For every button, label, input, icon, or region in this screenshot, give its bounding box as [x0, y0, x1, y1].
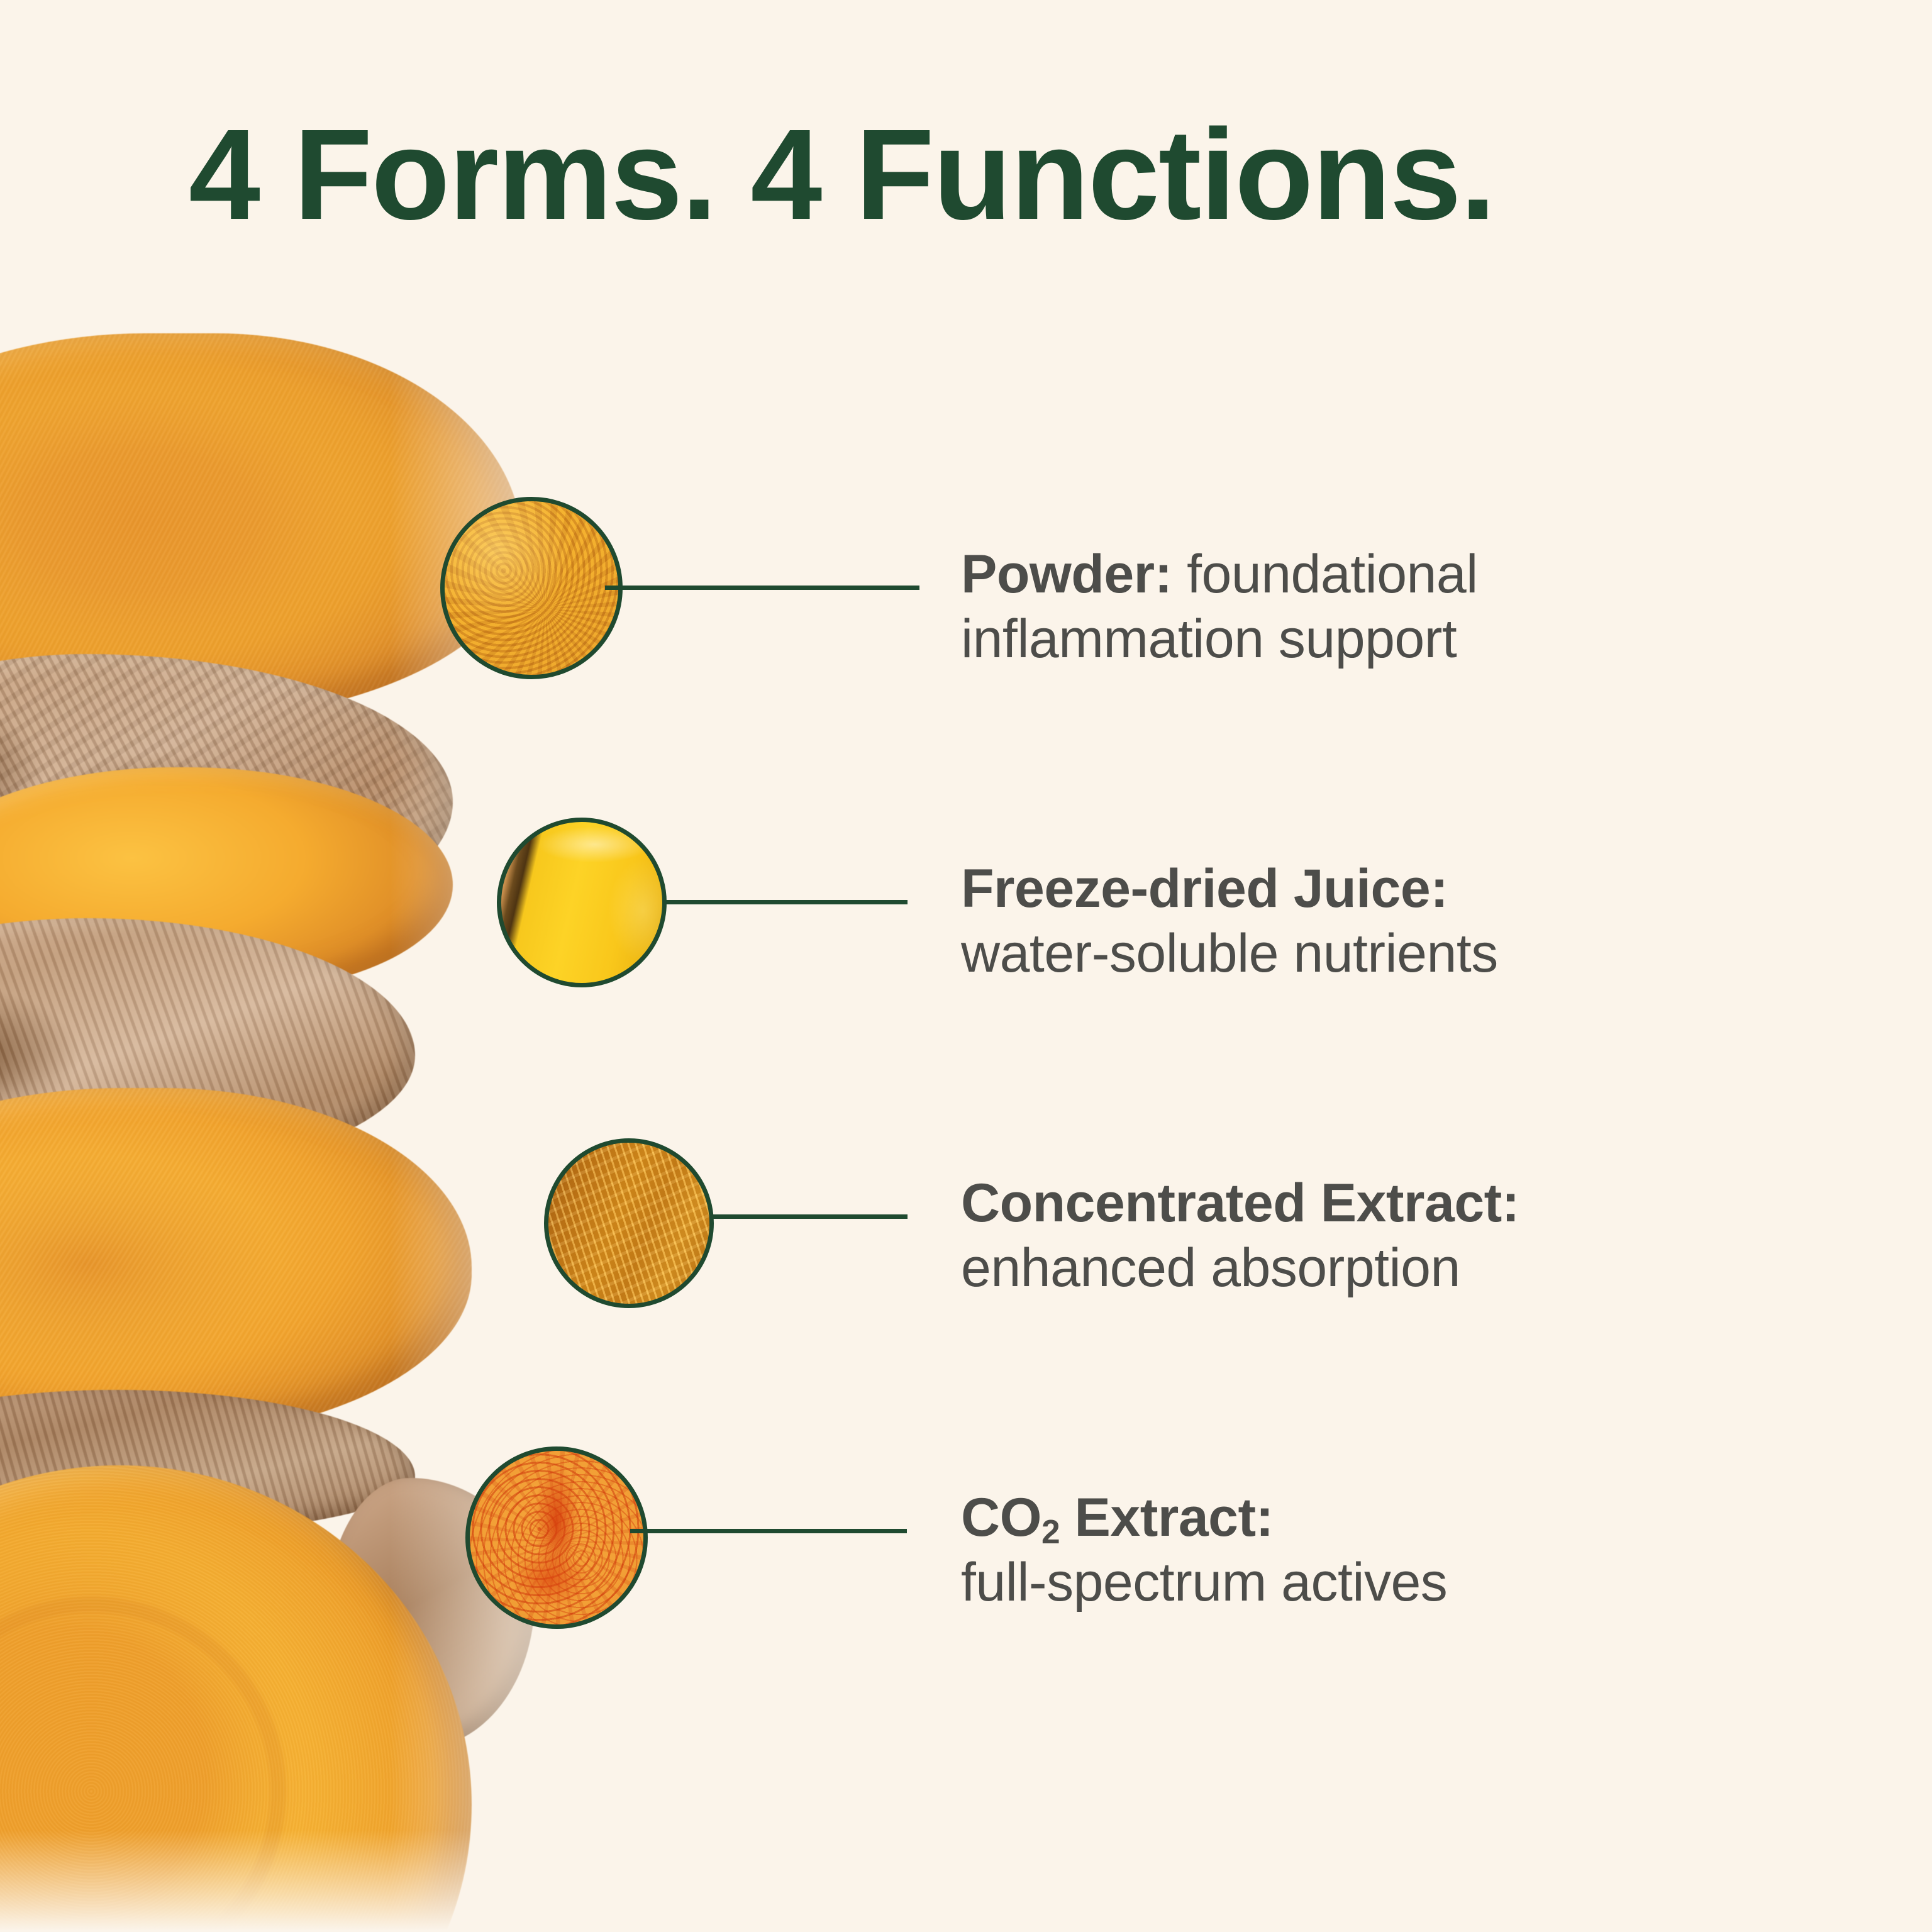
co2-lead-text: CO2 Extract: [961, 1487, 1274, 1548]
extract-liquid-closeup-bubble[interactable] [544, 1138, 714, 1308]
powder-line2-text: inflammation support [961, 607, 1873, 672]
callout-label-powder: Powder: foundational inflammation suppor… [961, 542, 1873, 672]
powder-rest-text: foundational [1172, 544, 1478, 604]
extract-line2-text: enhanced absorption [961, 1236, 1873, 1301]
powder-connector-line [605, 586, 919, 590]
co2-extract-closeup-bubble[interactable] [465, 1446, 648, 1629]
infographic-canvas: 4 Forms. 4 Functions. Powder: foundation… [0, 0, 1932, 1932]
powder-closeup-bubble[interactable] [440, 497, 623, 679]
callout-label-co2-extract: CO2 Extract: full-spectrum actives [961, 1485, 1873, 1615]
co2-lead-pre: CO [961, 1487, 1041, 1548]
callout-label-freeze-dried-juice: Freeze-dried Juice: water-soluble nutrie… [961, 857, 1873, 986]
turmeric-slice-third [0, 1088, 472, 1440]
co2-lead-post: Extract: [1060, 1487, 1274, 1548]
juice-line2-text: water-soluble nutrients [961, 921, 1873, 986]
co2-line2-text: full-spectrum actives [961, 1550, 1873, 1615]
juice-connector-line [665, 900, 908, 904]
juice-lead-text: Freeze-dried Juice: [961, 858, 1448, 919]
extract-lead-text: Concentrated Extract: [961, 1173, 1519, 1233]
powder-lead-text: Powder: [961, 544, 1172, 604]
co2-connector-line [630, 1529, 907, 1533]
callout-label-concentrated-extract: Concentrated Extract: enhanced absorptio… [961, 1171, 1873, 1301]
extract-connector-line [713, 1214, 908, 1219]
page-title: 4 Forms. 4 Functions. [189, 107, 1495, 242]
co2-subscript: 2 [1041, 1514, 1060, 1551]
juice-glass-closeup-bubble[interactable] [497, 818, 667, 987]
